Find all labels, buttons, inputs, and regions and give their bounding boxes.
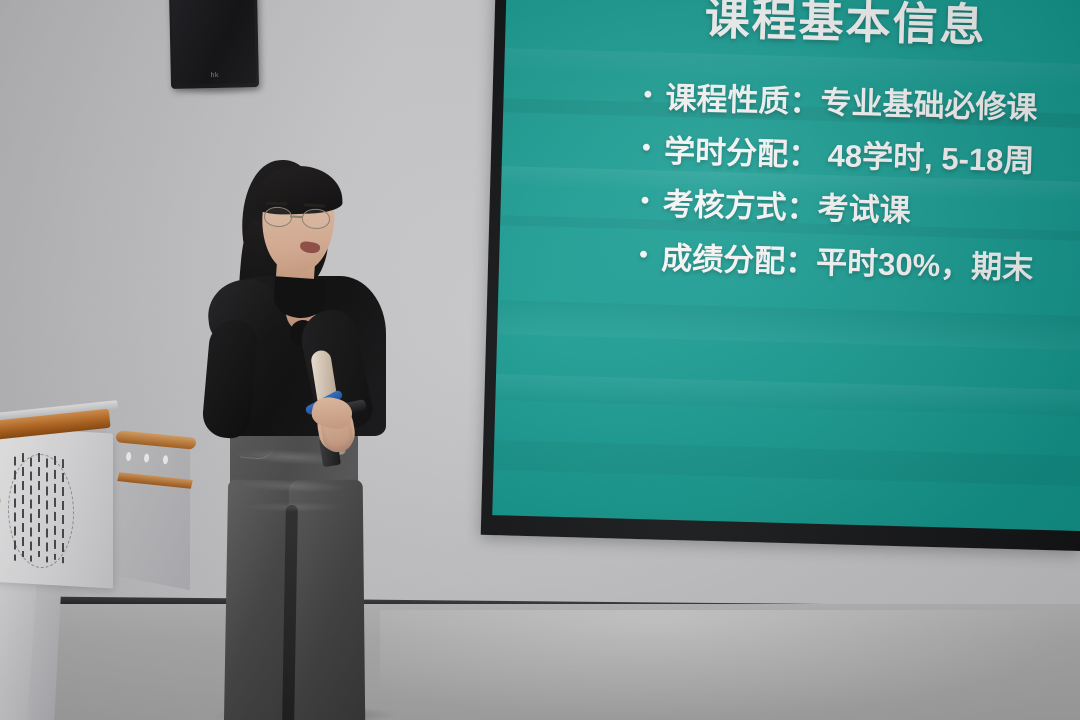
speaker-logo: hk [211, 72, 220, 79]
lectern-indicator [126, 452, 132, 461]
lectern [0, 398, 228, 720]
jeans-fade [244, 502, 344, 512]
screen-vignette [492, 0, 1080, 531]
projection-screen: 课程基本信息 • 课程性质：专业基础必修课 • 学时分配： 48学时, 5-18… [481, 0, 1080, 551]
screen-surface: 课程基本信息 • 课程性质：专业基础必修课 • 学时分配： 48学时, 5-18… [492, 0, 1080, 531]
screenshot-root: hk 课程基本信息 • 课程性质：专业基础必修课 • [0, 0, 1080, 720]
presenter-leg-right [289, 480, 366, 720]
glasses-lens-right [301, 208, 330, 229]
wall-speaker: hk [169, 0, 259, 89]
glasses-lens-left [264, 206, 293, 227]
lectern-indicator [163, 455, 169, 464]
lectern-speaker-grille [12, 457, 68, 564]
floor-sheen [380, 610, 1080, 720]
glasses-icon [262, 206, 337, 230]
lectern-indicator [144, 453, 150, 462]
presenter [196, 150, 416, 720]
